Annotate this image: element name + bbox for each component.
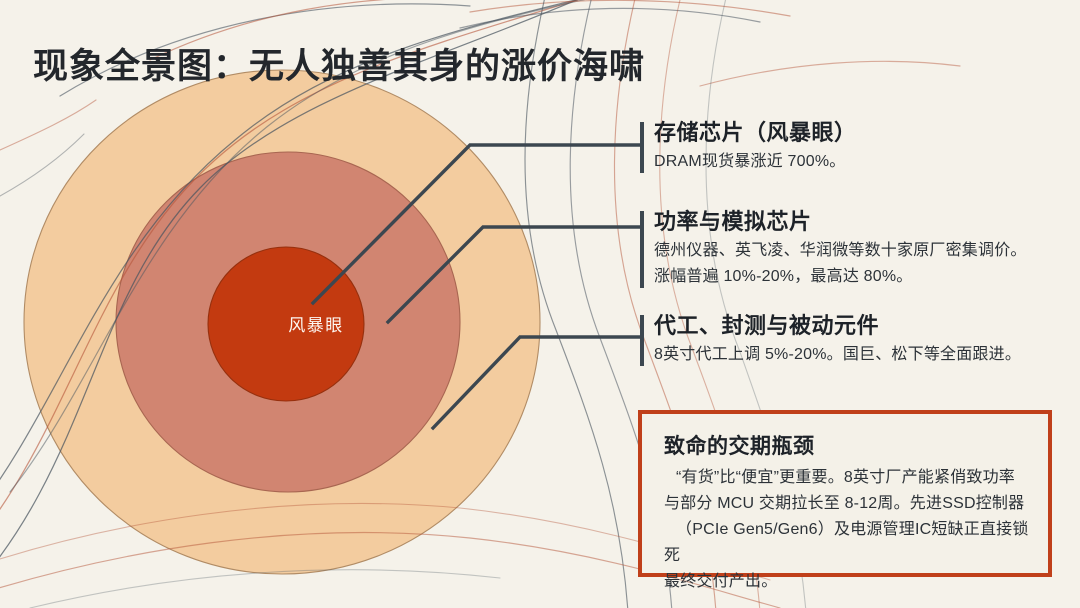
annotation-line: DRAM现货暴涨近 700%。 <box>654 150 1065 175</box>
annotation-line: 8英寸代工上调 5%-20%。国巨、松下等全面跟进。 <box>654 343 1065 368</box>
annotation-title: 存储芯片（风暴眼） <box>654 120 1065 146</box>
leader-lines <box>313 145 640 428</box>
annotation-line: 德州仪器、英飞凌、华润微等数十家原厂密集调价。 <box>654 239 1065 264</box>
annotation-power-analog-chips: 功率与模拟芯片 德州仪器、英飞凌、华润微等数十家原厂密集调价。 涨幅普遍 10%… <box>640 209 1065 290</box>
callout-body-line: 与部分 MCU 交期拉长至 8-12周。先进SSD控制器 <box>664 491 1030 517</box>
ring-core <box>208 247 364 401</box>
callout-body-line: “有货”比“便宜”更重要。8英寸厂产能紧俏致功率 <box>664 465 1030 491</box>
ring-middle <box>116 152 460 492</box>
storm-eye-label: 风暴眼 <box>236 311 396 336</box>
leader-line-3 <box>433 337 640 428</box>
callout-title: 致命的交期瓶颈 <box>664 430 1030 460</box>
storm-rings <box>24 70 540 574</box>
annotation-title: 功率与模拟芯片 <box>654 209 1065 235</box>
callout-body: “有货”比“便宜”更重要。8英寸厂产能紧俏致功率 与部分 MCU 交期拉长至 8… <box>664 465 1030 595</box>
ring-outer <box>24 70 540 574</box>
infographic-slide: 现象全景图：无人独善其身的涨价海啸 风暴眼 存储芯片（风暴眼） DRAM现货暴涨… <box>0 0 1080 608</box>
leader-line-1 <box>313 145 640 303</box>
annotation-title: 代工、封测与被动元件 <box>654 313 1065 339</box>
annotation-storage-chips: 存储芯片（风暴眼） DRAM现货暴涨近 700%。 <box>640 120 1065 175</box>
leader-line-2 <box>388 227 640 322</box>
annotation-line: 涨幅普遍 10%-20%，最高达 80%。 <box>654 265 1065 290</box>
annotation-foundry-packaging-passives: 代工、封测与被动元件 8英寸代工上调 5%-20%。国巨、松下等全面跟进。 <box>640 313 1065 368</box>
callout-body-line: （PCIe Gen5/Gen6）及电源管理IC短缺正直接锁死 <box>664 517 1030 569</box>
callout-body-line: 最终交付产出。 <box>664 569 1030 595</box>
lead-time-bottleneck-callout: 致命的交期瓶颈 “有货”比“便宜”更重要。8英寸厂产能紧俏致功率 与部分 MCU… <box>638 410 1052 577</box>
page-title: 现象全景图：无人独善其身的涨价海啸 <box>33 38 645 89</box>
